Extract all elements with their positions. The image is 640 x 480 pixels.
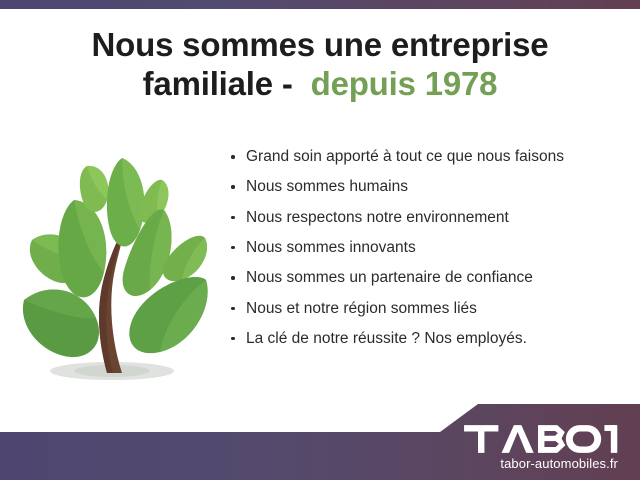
footer-band: tabor-automobiles.fr — [0, 400, 640, 480]
brand-logo[interactable]: tabor-automobiles.fr — [463, 424, 618, 471]
page-title-line-2: familiale - depuis 1978 — [0, 65, 640, 104]
tree-leaf-center-top — [107, 158, 144, 247]
top-accent-bar — [0, 0, 640, 9]
bullet-dot-icon — [231, 155, 235, 159]
list-item: Nous sommes innovants — [228, 239, 628, 257]
list-item: Nous et notre région sommes liés — [228, 300, 628, 318]
list-item-label: La clé de notre réussite ? Nos employés. — [246, 330, 527, 347]
list-item-label: Grand soin apporté à tout ce que nous fa… — [246, 148, 564, 165]
bullet-dot-icon — [231, 307, 235, 311]
list-item: La clé de notre réussite ? Nos employés. — [228, 330, 628, 348]
list-item-label: Nous sommes humains — [246, 178, 408, 195]
tabor-wordmark — [463, 424, 618, 454]
list-item-label: Nous et notre région sommes liés — [246, 300, 477, 317]
bullet-dot-icon — [231, 185, 235, 189]
list-item-label: Nous sommes innovants — [246, 239, 416, 256]
list-item: Nous respectons notre environnement — [228, 209, 628, 227]
list-item-label: Nous sommes un partenaire de confiance — [246, 269, 533, 286]
page-title-dash: - — [282, 65, 293, 102]
page-title: Nous sommes une entreprise familiale - d… — [0, 26, 640, 104]
list-item: Nous sommes un partenaire de confiance — [228, 269, 628, 287]
benefits-list: Grand soin apporté à tout ce que nous fa… — [228, 148, 628, 360]
tree-leaf-upper-left — [58, 200, 106, 297]
list-item: Nous sommes humains — [228, 178, 628, 196]
bullet-dot-icon — [231, 276, 235, 280]
page-title-prefix: familiale — [143, 65, 273, 102]
list-item: Grand soin apporté à tout ce que nous fa… — [228, 148, 628, 166]
page-title-accent: depuis 1978 — [311, 65, 498, 102]
bullet-dot-icon — [231, 246, 235, 250]
tree-leaf-lower-left — [23, 290, 99, 358]
page-title-line-1: Nous sommes une entreprise — [0, 26, 640, 65]
brand-tagline: tabor-automobiles.fr — [463, 456, 618, 471]
bullet-dot-icon — [231, 337, 235, 341]
slide-canvas: Nous sommes une entreprise familiale - d… — [0, 0, 640, 480]
list-item-label: Nous respectons notre environnement — [246, 209, 509, 226]
bullet-dot-icon — [231, 216, 235, 220]
tree-illustration — [12, 152, 217, 388]
